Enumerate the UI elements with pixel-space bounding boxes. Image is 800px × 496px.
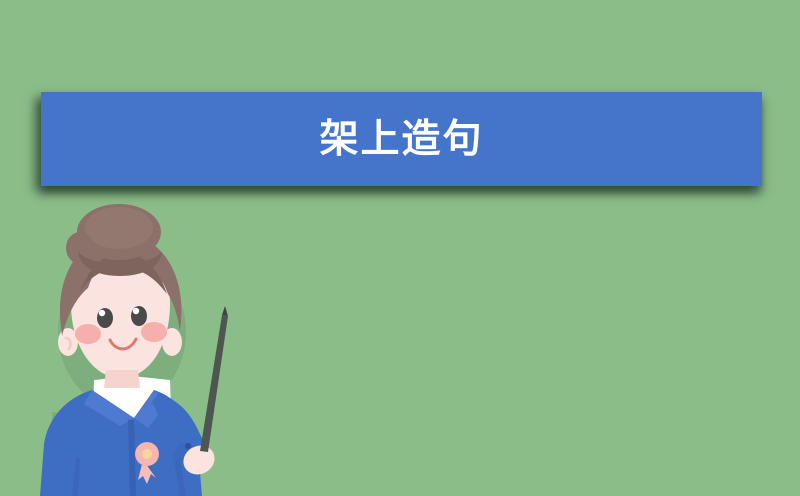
neck bbox=[104, 370, 140, 388]
pointer-stick bbox=[200, 306, 228, 452]
teacher-body bbox=[40, 376, 220, 496]
cuff-button-top bbox=[185, 443, 191, 449]
eye-right bbox=[131, 306, 147, 326]
eye-left bbox=[97, 308, 113, 328]
teacher-figure-svg bbox=[22, 212, 252, 496]
hair-bun-highlight bbox=[85, 207, 153, 249]
slide-canvas: 架上造句 bbox=[0, 0, 800, 496]
teacher-illustration bbox=[22, 212, 252, 496]
title-banner: 架上造句 bbox=[41, 92, 762, 186]
blush-right bbox=[141, 322, 167, 342]
blush-left bbox=[75, 324, 101, 344]
page-title: 架上造句 bbox=[319, 120, 483, 159]
